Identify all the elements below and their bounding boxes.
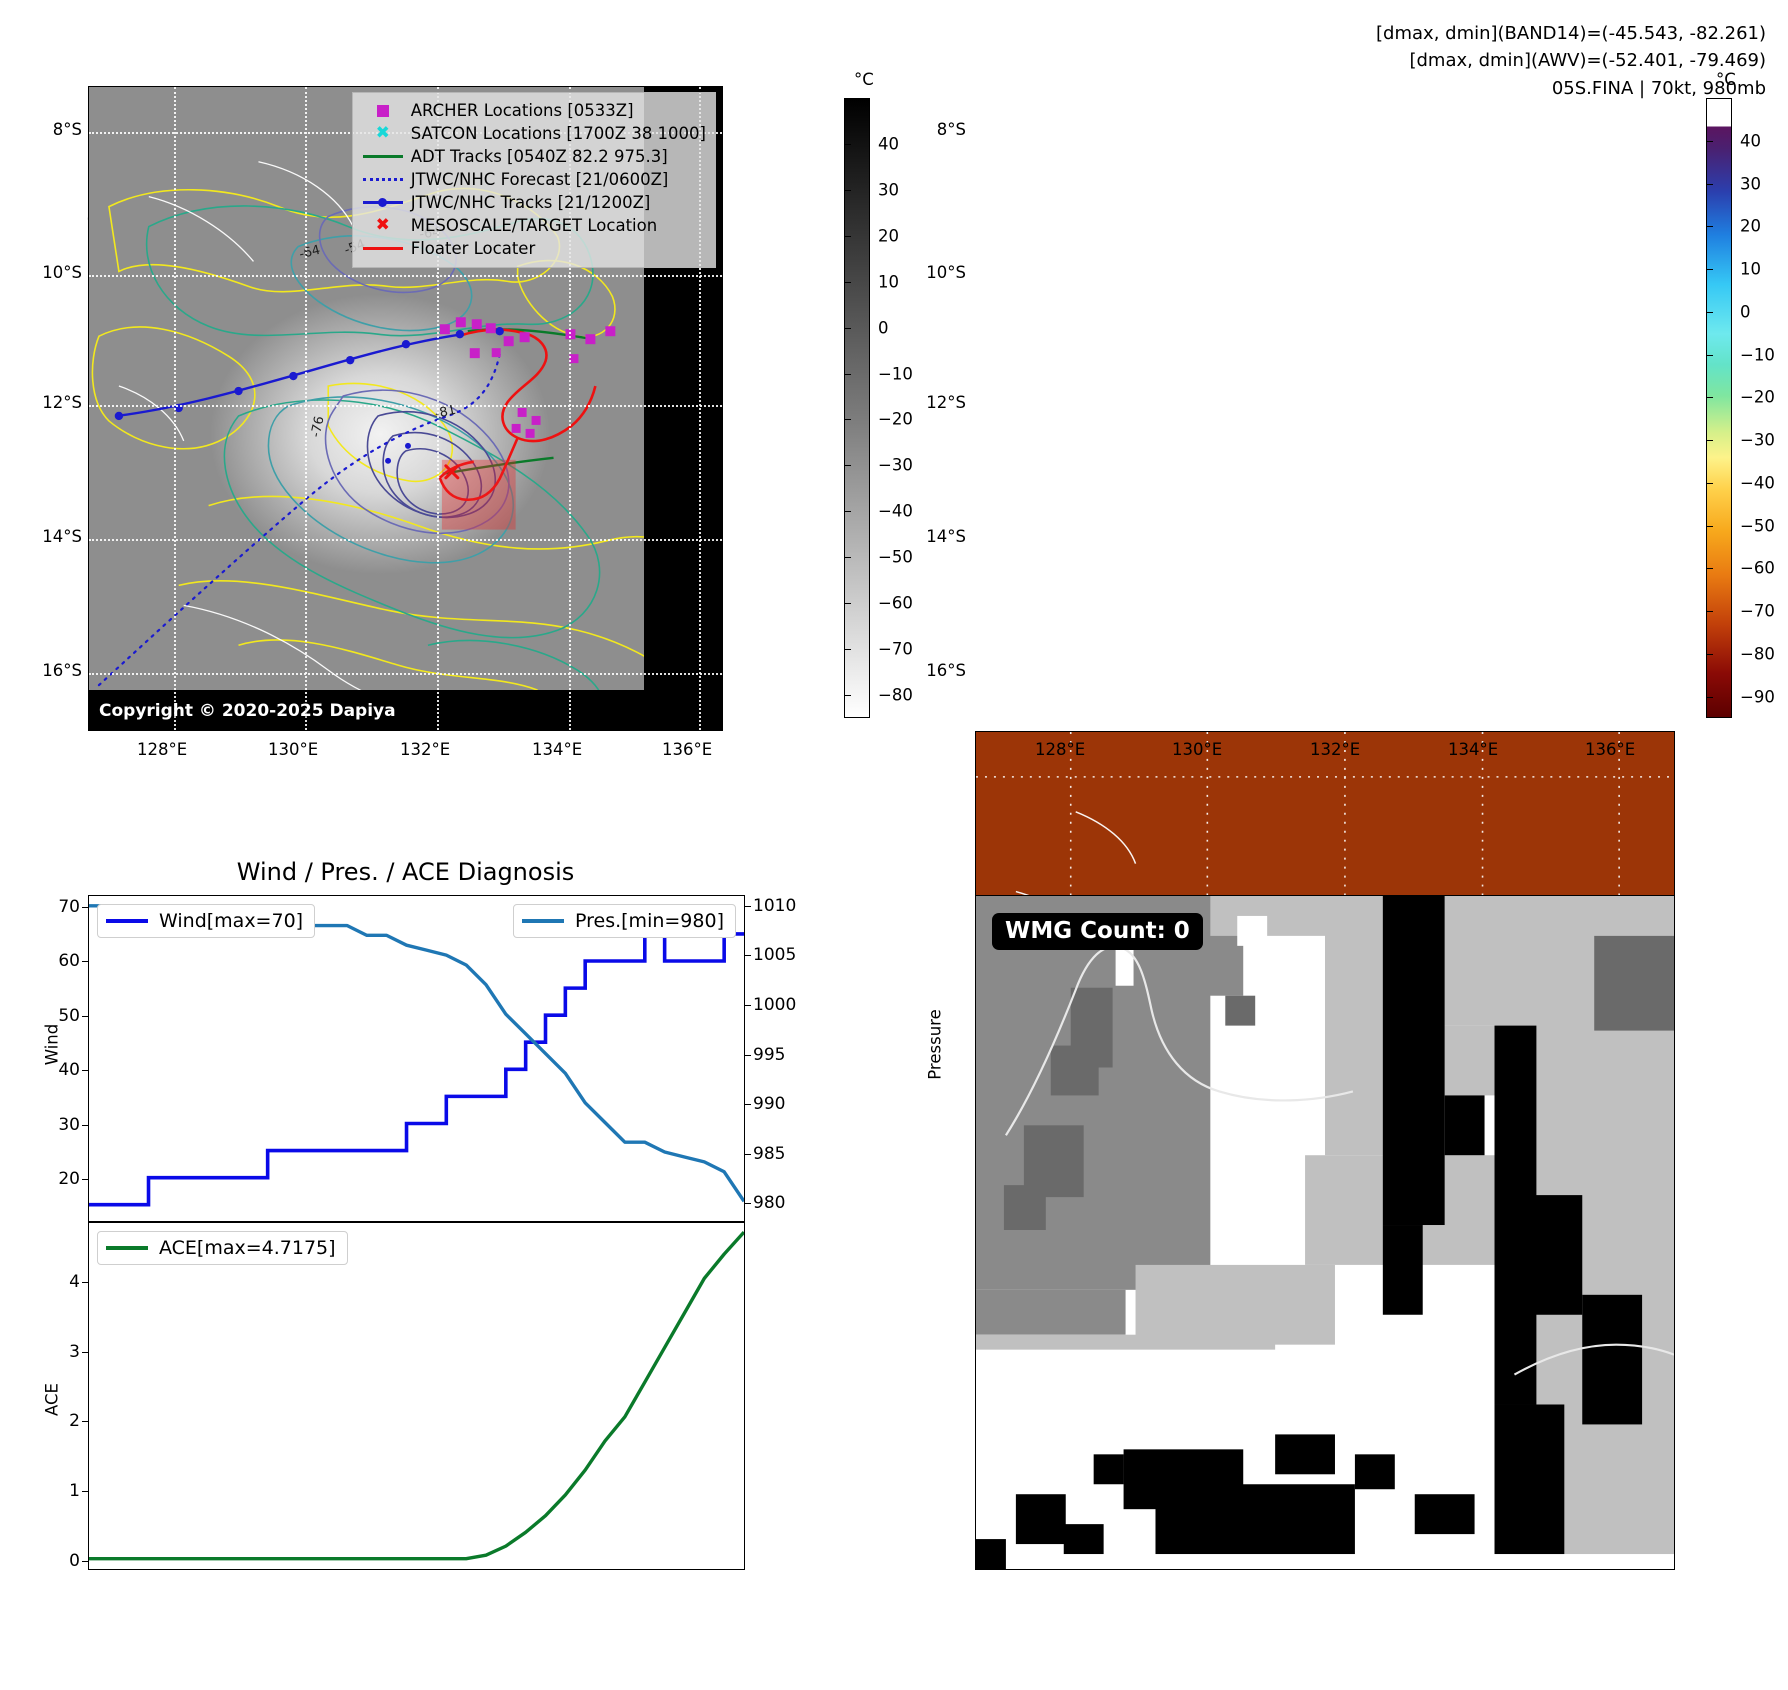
awv-lat-tick-8S: 8°S <box>908 120 966 139</box>
legend-label-forecast: JTWC/NHC Forecast [21/0600Z] <box>406 170 669 189</box>
wind-axis-label: Wind <box>43 985 62 1105</box>
jtwc-track-line-icon <box>360 201 406 204</box>
lon-tick-132E: 132°E <box>400 740 450 759</box>
colorbar-tick-mark <box>844 695 851 696</box>
colorbar-tick-label: −40 <box>878 502 913 521</box>
adt-line-icon <box>360 155 406 158</box>
ace-legend-label: ACE[max=4.7175] <box>159 1237 336 1259</box>
colorbar-tick-mark <box>844 190 851 191</box>
satcon-cross-icon: ✖ <box>360 125 406 142</box>
axis-tick-mark <box>744 1005 751 1006</box>
colorbar-tick-label: 20 <box>878 226 899 245</box>
axis-tick-label: 40 <box>58 1060 80 1080</box>
awv-lon-tick-134E: 134°E <box>1448 740 1498 759</box>
colorbar-tick-mark <box>844 328 851 329</box>
legend-item-jtwc-tracks: JTWC/NHC Tracks [21/1200Z] <box>360 191 706 214</box>
colorbar-tick-mark <box>844 465 851 466</box>
awv-lon-tick-130E: 130°E <box>1172 740 1222 759</box>
axis-tick-label: 990 <box>753 1094 785 1114</box>
colorbar-tick-label: −30 <box>878 456 913 475</box>
pressure-legend-label: Pres.[min=980] <box>575 910 724 932</box>
colorbar-tick-mark <box>1706 611 1713 612</box>
colorbar-tick-mark <box>1706 697 1713 698</box>
ace-chart[interactable]: 01234 ACE[max=4.7175] <box>88 1222 745 1570</box>
colorbar-tick-label: 40 <box>878 134 899 153</box>
colorbar-tick-mark <box>1706 397 1713 398</box>
colorbar-tick-mark <box>1706 440 1713 441</box>
colorbar-tick-mark <box>1706 312 1713 313</box>
colorbar-tick-label: −90 <box>1740 687 1775 706</box>
awv-lat-tick-16S: 16°S <box>900 661 966 680</box>
axis-tick-mark <box>82 1016 89 1017</box>
axis-tick-mark <box>744 1104 751 1105</box>
forecast-dotted-line-icon <box>360 178 406 181</box>
colorbar-tick-mark <box>1706 483 1713 484</box>
charts-section-title: Wind / Pres. / ACE Diagnosis <box>88 858 723 886</box>
colorbar-tick-label: 0 <box>878 318 889 337</box>
axis-tick-mark <box>82 1070 89 1071</box>
axis-tick-label: 1005 <box>753 945 796 965</box>
legend-item-floater: Floater Locater <box>360 237 706 260</box>
axis-tick-label: 985 <box>753 1144 785 1164</box>
awv-lat-tick-10S: 10°S <box>900 263 966 282</box>
colorbar-tick-mark <box>1706 141 1713 142</box>
axis-tick-label: 60 <box>58 951 80 971</box>
wmg-imagery <box>976 896 1674 1569</box>
colorbar-tick-mark <box>1706 355 1713 356</box>
wind-legend: Wind[max=70] <box>97 904 315 938</box>
axis-tick-mark <box>82 1125 89 1126</box>
axis-tick-label: 4 <box>69 1272 80 1292</box>
colorbar-tick-mark <box>844 374 851 375</box>
legend-label-jtwc-tracks: JTWC/NHC Tracks [21/1200Z] <box>406 193 651 212</box>
axis-tick-label: 2 <box>69 1411 80 1431</box>
colorbar-tick-mark <box>844 511 851 512</box>
colorbar-right: °C 403020100−10−20−30−40−50−60−70−80−90 <box>1700 70 1788 735</box>
lat-tick-8S: 8°S <box>26 120 82 139</box>
colorbar-tick-label: 10 <box>878 272 899 291</box>
axis-tick-mark <box>82 1561 89 1562</box>
axis-tick-label: 1000 <box>753 995 796 1015</box>
legend-label-satcon: SATCON Locations [1700Z 38 1000] <box>406 124 706 143</box>
colorbar-tick-label: −10 <box>878 364 913 383</box>
colorbar-tick-mark <box>1706 269 1713 270</box>
axis-tick-mark <box>744 906 751 907</box>
colorbar-tick-mark <box>844 419 851 420</box>
colorbar-tick-label: 20 <box>1740 217 1761 236</box>
colorbar-tick-mark <box>1706 226 1713 227</box>
axis-tick-label: 1 <box>69 1481 80 1501</box>
legend-label-mesoscale: MESOSCALE/TARGET Location <box>406 216 657 235</box>
colorbar-right-unit: °C <box>1716 70 1736 89</box>
axis-tick-mark <box>82 1421 89 1422</box>
legend-item-adt: ADT Tracks [0540Z 82.2 975.3] <box>360 145 706 168</box>
ace-legend-line-icon <box>106 1246 148 1250</box>
wind-legend-label: Wind[max=70] <box>159 910 303 932</box>
colorbar-right-ticks: 403020100−10−20−30−40−50−60−70−80−90 <box>1706 98 1788 718</box>
lat-tick-16S: 16°S <box>18 661 82 680</box>
pressure-legend: Pres.[min=980] <box>513 904 736 938</box>
lon-tick-128E: 128°E <box>137 740 187 759</box>
axis-tick-label: 20 <box>58 1169 80 1189</box>
awv-lon-tick-136E: 136°E <box>1585 740 1635 759</box>
lat-tick-12S: 12°S <box>18 393 82 412</box>
awv-lon-tick-128E: 128°E <box>1035 740 1085 759</box>
axis-tick-label: 70 <box>58 897 80 917</box>
colorbar-tick-label: −70 <box>878 640 913 659</box>
legend-item-mesoscale: ✖ MESOSCALE/TARGET Location <box>360 214 706 237</box>
axis-tick-label: 1010 <box>753 896 796 916</box>
colorbar-tick-label: 10 <box>1740 260 1761 279</box>
colorbar-tick-mark <box>844 557 851 558</box>
axis-tick-label: 995 <box>753 1045 785 1065</box>
colorbar-tick-label: −60 <box>1740 559 1775 578</box>
colorbar-tick-mark <box>844 282 851 283</box>
lon-tick-136E: 136°E <box>662 740 712 759</box>
colorbar-tick-label: 40 <box>1740 131 1761 150</box>
colorbar-tick-label: 0 <box>1740 302 1751 321</box>
map-legend: ARCHER Locations [0533Z] ✖ SATCON Locati… <box>352 92 716 268</box>
axis-tick-mark <box>744 1154 751 1155</box>
colorbar-tick-label: 30 <box>878 180 899 199</box>
axis-tick-mark <box>82 1491 89 1492</box>
colorbar-tick-label: −10 <box>1740 345 1775 364</box>
wind-legend-line-icon <box>106 919 148 923</box>
legend-label-adt: ADT Tracks [0540Z 82.2 975.3] <box>406 147 668 166</box>
axis-tick-mark <box>744 955 751 956</box>
series-step-line <box>89 934 744 1205</box>
lat-tick-10S: 10°S <box>18 263 82 282</box>
colorbar-tick-label: −30 <box>1740 431 1775 450</box>
colorbar-tick-label: −50 <box>878 548 913 567</box>
axis-tick-mark <box>82 1179 89 1180</box>
wind-pressure-series <box>89 896 744 1221</box>
axis-tick-label: 980 <box>753 1193 785 1213</box>
colorbar-tick-label: −40 <box>1740 473 1775 492</box>
ir-band14-map[interactable]: -64 -54 -64 -81 -76 -54 Copyright © 2020… <box>88 86 723 731</box>
axis-tick-mark <box>82 961 89 962</box>
colorbar-tick-mark <box>1706 568 1713 569</box>
axis-tick-label: 0 <box>69 1551 80 1571</box>
axis-tick-label: 3 <box>69 1342 80 1362</box>
dmax-band14-text: [dmax, dmin](BAND14)=(-45.543, -82.261) <box>1376 20 1766 47</box>
colorbar-tick-label: −80 <box>878 686 913 705</box>
colorbar-tick-mark <box>844 603 851 604</box>
colorbar-left-unit: °C <box>854 70 874 89</box>
mesoscale-x-icon: ✖ <box>360 217 406 234</box>
legend-item-satcon: ✖ SATCON Locations [1700Z 38 1000] <box>360 122 706 145</box>
colorbar-tick-label: −70 <box>1740 602 1775 621</box>
archer-square-icon <box>360 105 406 117</box>
wmg-count-badge: WMG Count: 0 <box>992 913 1203 950</box>
colorbar-tick-label: 30 <box>1740 174 1761 193</box>
legend-label-floater: Floater Locater <box>406 239 536 258</box>
lon-tick-134E: 134°E <box>532 740 582 759</box>
series-line <box>89 1232 744 1559</box>
copyright-text: Copyright © 2020-2025 Dapiya <box>99 701 396 721</box>
axis-tick-label: 30 <box>58 1115 80 1135</box>
colorbar-tick-label: −20 <box>878 410 913 429</box>
colorbar-tick-mark <box>1706 526 1713 527</box>
axis-tick-label: 50 <box>58 1006 80 1026</box>
ace-legend: ACE[max=4.7175] <box>97 1231 348 1265</box>
colorbar-tick-label: −20 <box>1740 388 1775 407</box>
axis-tick-mark <box>82 1282 89 1283</box>
axis-tick-mark <box>82 1352 89 1353</box>
wmg-map[interactable]: WMG Count: 0 <box>975 895 1675 1570</box>
awv-lat-tick-14S: 14°S <box>900 527 966 546</box>
colorbar-tick-mark <box>844 649 851 650</box>
wind-pressure-chart[interactable]: 203040506070 980985990995100010051010 Wi… <box>88 895 745 1222</box>
colorbar-tick-label: −80 <box>1740 644 1775 663</box>
axis-tick-mark <box>744 1055 751 1056</box>
colorbar-tick-mark <box>1706 654 1713 655</box>
legend-item-forecast: JTWC/NHC Forecast [21/0600Z] <box>360 168 706 191</box>
colorbar-tick-mark <box>1706 184 1713 185</box>
colorbar-tick-mark <box>844 236 851 237</box>
pressure-legend-line-icon <box>522 919 564 923</box>
legend-label-archer: ARCHER Locations [0533Z] <box>406 101 634 120</box>
awv-lat-tick-12S: 12°S <box>900 393 966 412</box>
ace-axis-label: ACE <box>43 1340 62 1460</box>
axis-tick-mark <box>744 1203 751 1204</box>
colorbar-tick-mark <box>844 144 851 145</box>
pressure-axis-label: Pressure <box>926 980 945 1110</box>
awv-lon-tick-132E: 132°E <box>1310 740 1360 759</box>
floater-line-icon <box>360 247 406 250</box>
dashboard-root: HIMAWARI-8 BAND14-DIAS TARGET AREA Time:… <box>0 0 1788 1690</box>
lat-tick-14S: 14°S <box>18 527 82 546</box>
colorbar-tick-label: −60 <box>878 594 913 613</box>
colorbar-tick-label: −50 <box>1740 516 1775 535</box>
legend-item-archer: ARCHER Locations [0533Z] <box>360 99 706 122</box>
ace-series <box>89 1223 744 1569</box>
axis-tick-mark <box>82 907 89 908</box>
lon-tick-130E: 130°E <box>268 740 318 759</box>
